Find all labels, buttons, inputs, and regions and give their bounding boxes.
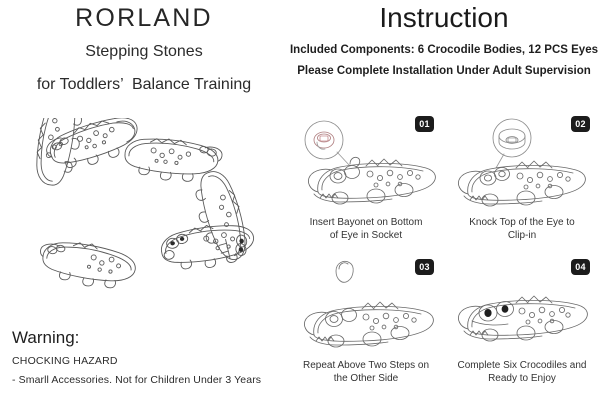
step-caption-01: Insert Bayonet on Bottom of Eye in Socke… bbox=[294, 216, 438, 242]
warning-heading: Warning: bbox=[12, 328, 288, 348]
instruction-title: Instruction bbox=[288, 2, 600, 34]
step-badge-02: 02 bbox=[571, 116, 590, 132]
product-tagline: for Toddlers’ Balance Training bbox=[0, 76, 288, 94]
stepping-stones-ring-illustration bbox=[2, 118, 286, 304]
step-caption-02: Knock Top of the Eye to Clip-in bbox=[450, 216, 594, 242]
step-panel-03: 03 Repeat Above Two Steps on the Other S… bbox=[288, 255, 444, 398]
instruction-sheet: RORLAND Stepping Stones for Toddlers’ Ba… bbox=[0, 0, 600, 404]
product-column: RORLAND Stepping Stones for Toddlers’ Ba… bbox=[0, 0, 288, 404]
brand-title: RORLAND bbox=[0, 4, 288, 33]
steps-grid: 01 Insert Bayonet on Bottom of Eye in So… bbox=[288, 112, 600, 398]
step-panel-01: 01 Insert Bayonet on Bottom of Eye in So… bbox=[288, 112, 444, 255]
product-name: Stepping Stones bbox=[0, 43, 288, 61]
instruction-column: Instruction Included Components: 6 Croco… bbox=[288, 0, 600, 404]
step-badge-04: 04 bbox=[571, 259, 590, 275]
step-caption-04: Complete Six Crocodiles and Ready to Enj… bbox=[450, 359, 594, 385]
step-panel-02: 02 Knock Top of the Eye to Clip-in bbox=[444, 112, 600, 255]
step-panel-04: 04 Complete Six Crocodiles and Ready to … bbox=[444, 255, 600, 398]
warning-block: Warning: CHOCKING HAZARD - Smarll Access… bbox=[12, 328, 288, 386]
warning-hazard-text: CHOCKING HAZARD bbox=[12, 355, 288, 367]
adult-supervision-line: Please Complete Installation Under Adult… bbox=[288, 65, 600, 77]
step-badge-01: 01 bbox=[415, 116, 434, 132]
included-components-line: Included Components: 6 Crocodile Bodies,… bbox=[288, 44, 600, 56]
step-badge-03: 03 bbox=[415, 259, 434, 275]
warning-detail-text: - Smarll Accessories. Not for Children U… bbox=[12, 374, 288, 386]
step-caption-03: Repeat Above Two Steps on the Other Side bbox=[294, 359, 438, 385]
